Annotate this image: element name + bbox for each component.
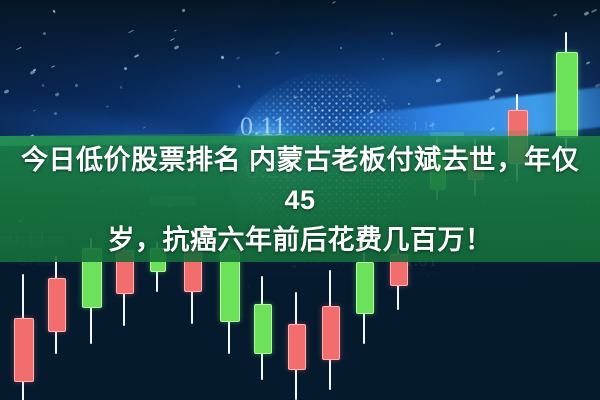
banner-image: 0.110.110.111.010.111.010.110.110.211.01… [0, 0, 600, 400]
candlestick-down [14, 318, 32, 380]
headline-line-2: 岁，抗癌六年前后花费几百万！ [108, 220, 493, 260]
candlestick-body [322, 306, 340, 360]
candlestick-body [356, 262, 374, 314]
candlestick-up [356, 262, 372, 312]
candlestick-body [48, 278, 66, 332]
headline-text: 今日低价股票排名 内蒙古老板付斌去世，年仅45 岁，抗癌六年前后花费几百万！ [0, 150, 600, 250]
headline-line-1: 今日低价股票排名 内蒙古老板付斌去世，年仅45 [8, 140, 592, 220]
candlestick-body [14, 318, 34, 382]
candlestick-body [288, 324, 306, 370]
candlestick-down [322, 306, 338, 358]
candlestick-body [254, 304, 272, 354]
candlestick-down [48, 278, 64, 330]
candlestick-up [254, 304, 270, 352]
candlestick-down [288, 324, 304, 368]
